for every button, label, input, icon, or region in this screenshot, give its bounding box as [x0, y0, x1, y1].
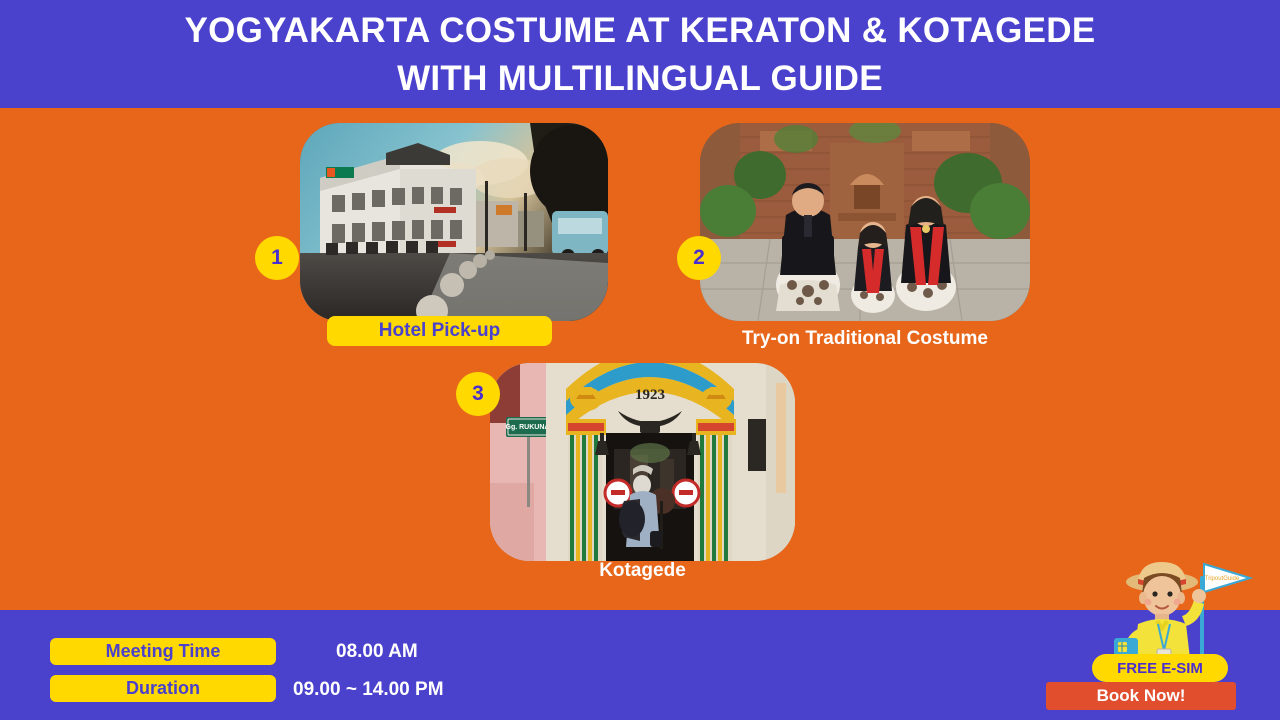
- step-3-photo: Gg. RUKUNAN 1923: [490, 363, 795, 561]
- step-1-photo: [300, 123, 608, 321]
- book-now-button[interactable]: Book Now!: [1046, 682, 1236, 710]
- page-title-line-2: WITH MULTILINGUAL GUIDE: [397, 55, 883, 103]
- step-1-caption: Hotel Pick-up: [327, 316, 552, 346]
- kotagede-gateway-image: Gg. RUKUNAN 1923: [490, 363, 795, 561]
- step-2-caption: Try-on Traditional Costume: [700, 328, 1030, 350]
- meeting-time-value: 08.00 AM: [336, 641, 418, 663]
- step-2-photo: [700, 123, 1030, 321]
- free-esim-badge[interactable]: FREE E-SIM: [1092, 654, 1228, 682]
- page-title-line-1: YOGYAKARTA COSTUME AT KERATON & KOTAGEDE: [184, 7, 1095, 55]
- itinerary-section: 1 Hotel Pick-up: [0, 108, 1280, 610]
- duration-value: 09.00 ~ 14.00 PM: [293, 679, 444, 701]
- traditional-costume-image: [700, 123, 1030, 321]
- meeting-time-label: Meeting Time: [50, 638, 276, 665]
- step-3-number-badge: 3: [456, 372, 500, 416]
- step-2-number-badge: 2: [677, 236, 721, 280]
- svg-text:TripoutGuide: TripoutGuide: [1205, 576, 1240, 582]
- svg-text:1923: 1923: [635, 387, 665, 403]
- header-banner: YOGYAKARTA COSTUME AT KERATON & KOTAGEDE…: [0, 0, 1280, 108]
- step-1-number-badge: 1: [255, 236, 299, 280]
- step-3-caption: Kotagede: [490, 560, 795, 582]
- hotel-pickup-image: [300, 123, 608, 321]
- duration-label: Duration: [50, 675, 276, 702]
